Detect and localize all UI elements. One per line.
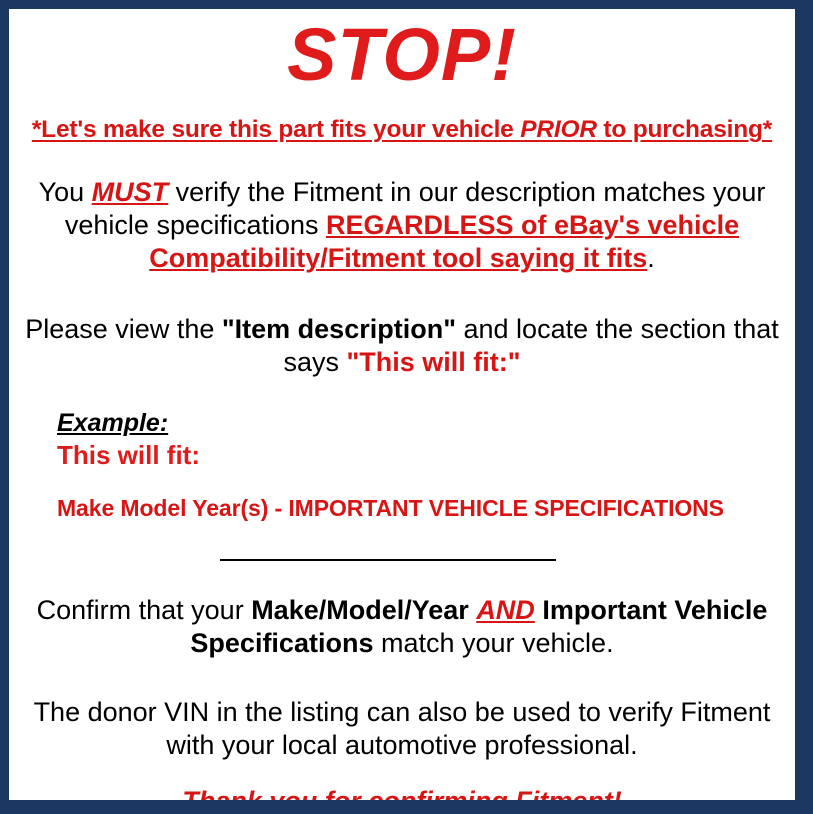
subtitle-emphasis-prior: PRIOR xyxy=(520,116,597,143)
this-will-fit-quote: "This will fit:" xyxy=(346,347,520,377)
item-description-paragraph: Please view the "Item description" and l… xyxy=(21,275,783,379)
confirm-text-2: match your vehicle. xyxy=(373,628,613,658)
divider-wrap xyxy=(21,522,783,566)
stop-heading: STOP! xyxy=(21,9,783,92)
must-verify-paragraph: You MUST verify the Fitment in our descr… xyxy=(21,144,783,275)
example-fits-header: This will fit: xyxy=(57,438,783,471)
item-desc-text-1: Please view the xyxy=(25,314,222,344)
subtitle-line: *Let's make sure this part fits your veh… xyxy=(21,92,783,144)
vin-paragraph: The donor VIN in the listing can also be… xyxy=(21,660,783,762)
example-label: Example: xyxy=(57,409,168,438)
example-label-row: Example: xyxy=(57,409,783,438)
subtitle-text-before: *Let's make sure this part fits your veh… xyxy=(32,116,520,143)
must-para-text-3: . xyxy=(647,243,655,273)
notice-body: STOP! *Let's make sure this part fits yo… xyxy=(9,9,795,800)
horizontal-divider xyxy=(220,559,556,561)
and-emphasis: AND xyxy=(476,595,535,625)
example-block: Example: This will fit: Make Model Year(… xyxy=(21,379,783,522)
must-emphasis: MUST xyxy=(92,177,169,207)
make-model-year-emphasis: Make/Model/Year xyxy=(251,595,469,625)
must-para-text-1: You xyxy=(39,177,92,207)
item-description-emphasis: "Item description" xyxy=(222,314,456,344)
example-spec-line: Make Model Year(s) - IMPORTANT VEHICLE S… xyxy=(57,471,783,522)
subtitle-text-after: to purchasing* xyxy=(597,116,772,143)
confirm-text-1: Confirm that your xyxy=(37,595,252,625)
confirm-paragraph: Confirm that your Make/Model/Year AND Im… xyxy=(21,566,783,660)
fitment-notice-frame: STOP! *Let's make sure this part fits yo… xyxy=(0,0,813,814)
thank-you-line: Thank you for confirming Fitment! xyxy=(21,762,783,814)
